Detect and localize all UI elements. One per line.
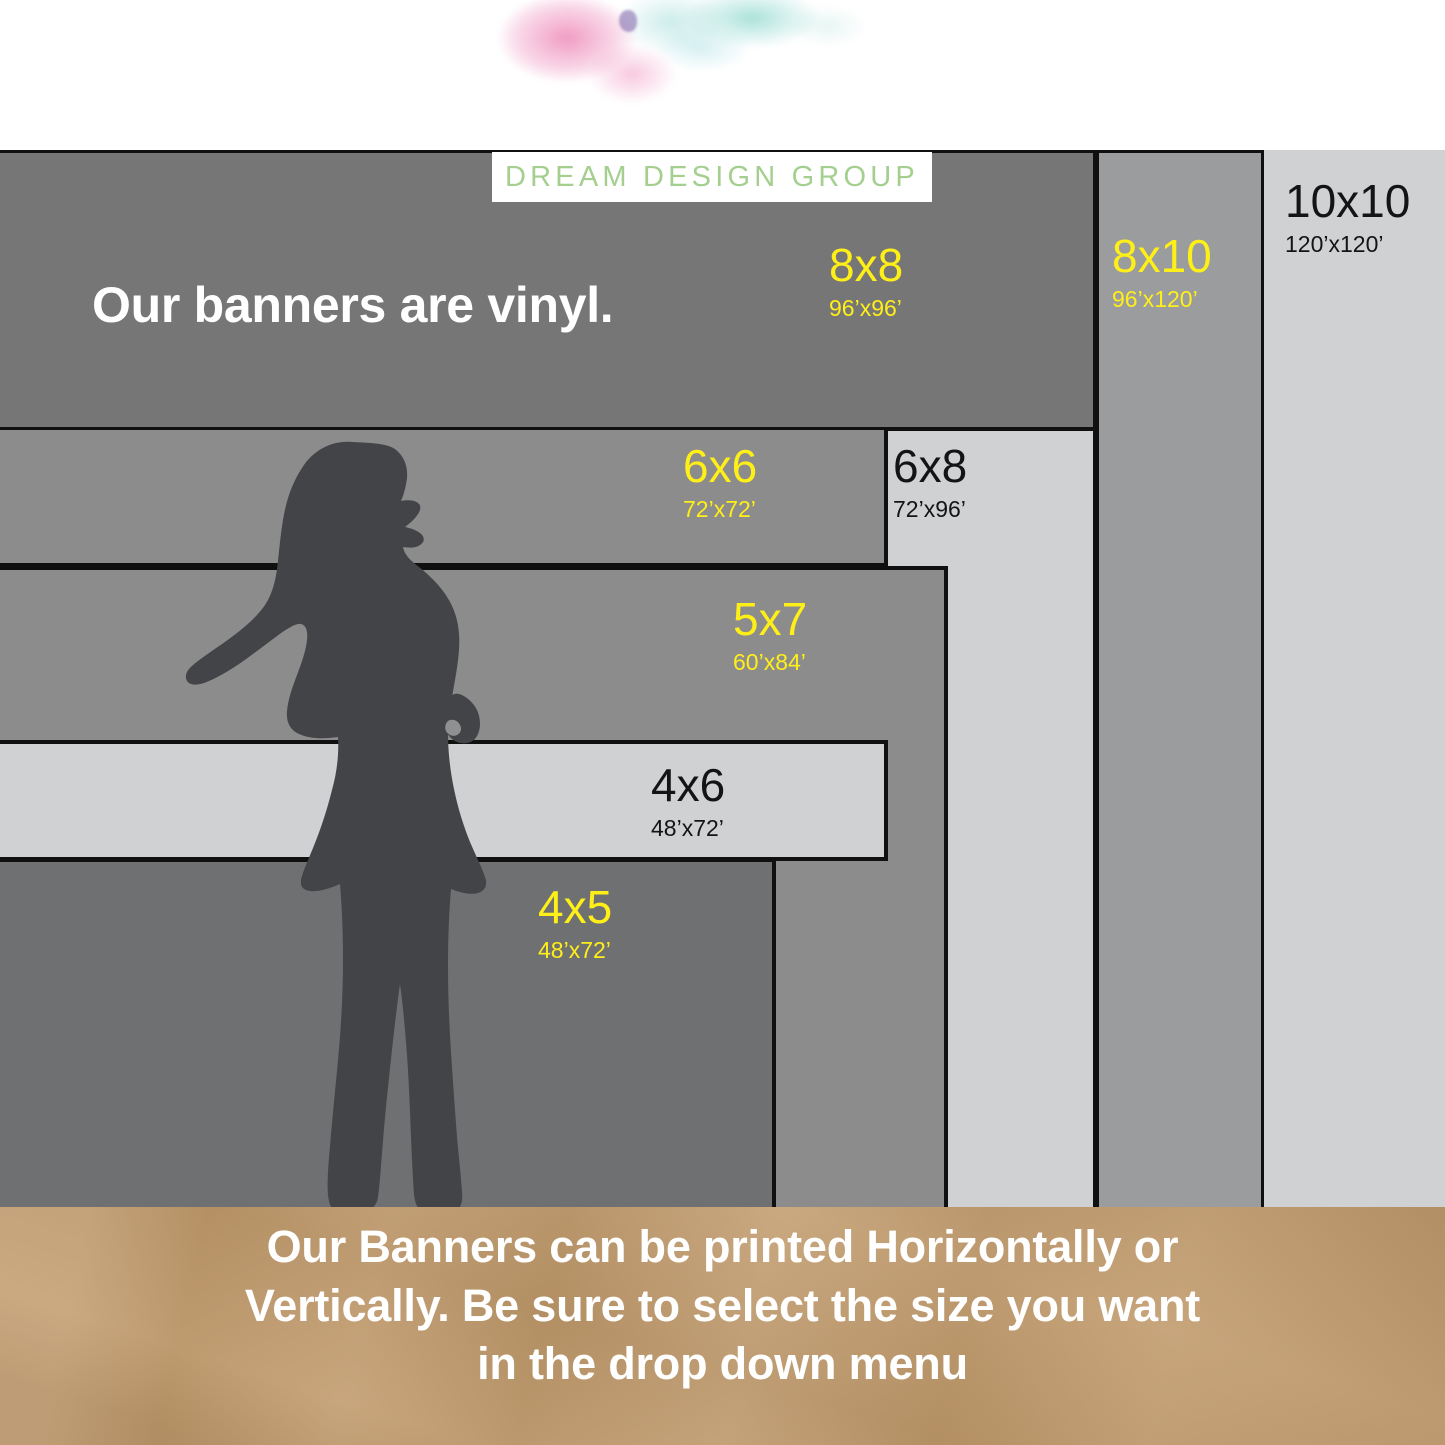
banner-rect-10x10[interactable] bbox=[1262, 150, 1445, 1207]
size-dims-4x6: 48’x72’ bbox=[651, 817, 725, 840]
page-headline: Our banners are vinyl. bbox=[92, 276, 613, 334]
size-name-4x6: 4x6 bbox=[651, 762, 725, 808]
woman-silhouette-icon bbox=[182, 438, 522, 1238]
size-dims-8x10: 96’x120’ bbox=[1112, 288, 1212, 311]
size-dims-8x8: 96’x96’ bbox=[829, 297, 903, 320]
size-label-6x6: 6x6 72’x72’ bbox=[683, 443, 757, 521]
size-name-8x10: 8x10 bbox=[1112, 233, 1212, 279]
footer-line-2: Vertically. Be sure to select the size y… bbox=[60, 1277, 1385, 1336]
size-dims-10x10: 120’x120’ bbox=[1285, 233, 1410, 256]
footer-message: Our Banners can be printed Horizontally … bbox=[0, 1218, 1445, 1394]
size-dims-4x5: 48’x72’ bbox=[538, 939, 612, 962]
size-label-8x10: 8x10 96’x120’ bbox=[1112, 233, 1212, 311]
size-dims-6x6: 72’x72’ bbox=[683, 498, 757, 521]
size-label-4x6: 4x6 48’x72’ bbox=[651, 762, 725, 840]
size-name-6x8: 6x8 bbox=[893, 443, 967, 489]
size-name-4x5: 4x5 bbox=[538, 884, 612, 930]
size-dims-6x8: 72’x96’ bbox=[893, 498, 967, 521]
footer-line-1: Our Banners can be printed Horizontally … bbox=[60, 1218, 1385, 1277]
size-name-8x8: 8x8 bbox=[829, 242, 903, 288]
logo-text: DREAM DESIGN GROUP bbox=[505, 161, 919, 194]
size-label-8x8: 8x8 96’x96’ bbox=[829, 242, 903, 320]
size-dims-5x7: 60’x84’ bbox=[733, 651, 807, 674]
size-label-10x10: 10x10 120’x120’ bbox=[1285, 178, 1410, 256]
size-label-4x5: 4x5 48’x72’ bbox=[538, 884, 612, 962]
footer-line-3: in the drop down menu bbox=[60, 1335, 1385, 1394]
banner-size-chart: DREAM DESIGN GROUP Our banners are vinyl… bbox=[0, 0, 1445, 1445]
size-label-6x8: 6x8 72’x96’ bbox=[893, 443, 967, 521]
size-name-6x6: 6x6 bbox=[683, 443, 757, 489]
watercolor-dot-icon bbox=[619, 10, 637, 32]
logo-plate: DREAM DESIGN GROUP bbox=[492, 152, 932, 202]
size-name-5x7: 5x7 bbox=[733, 596, 807, 642]
size-name-10x10: 10x10 bbox=[1285, 178, 1410, 224]
watercolor-logo-wash bbox=[497, 0, 937, 116]
size-label-5x7: 5x7 60’x84’ bbox=[733, 596, 807, 674]
